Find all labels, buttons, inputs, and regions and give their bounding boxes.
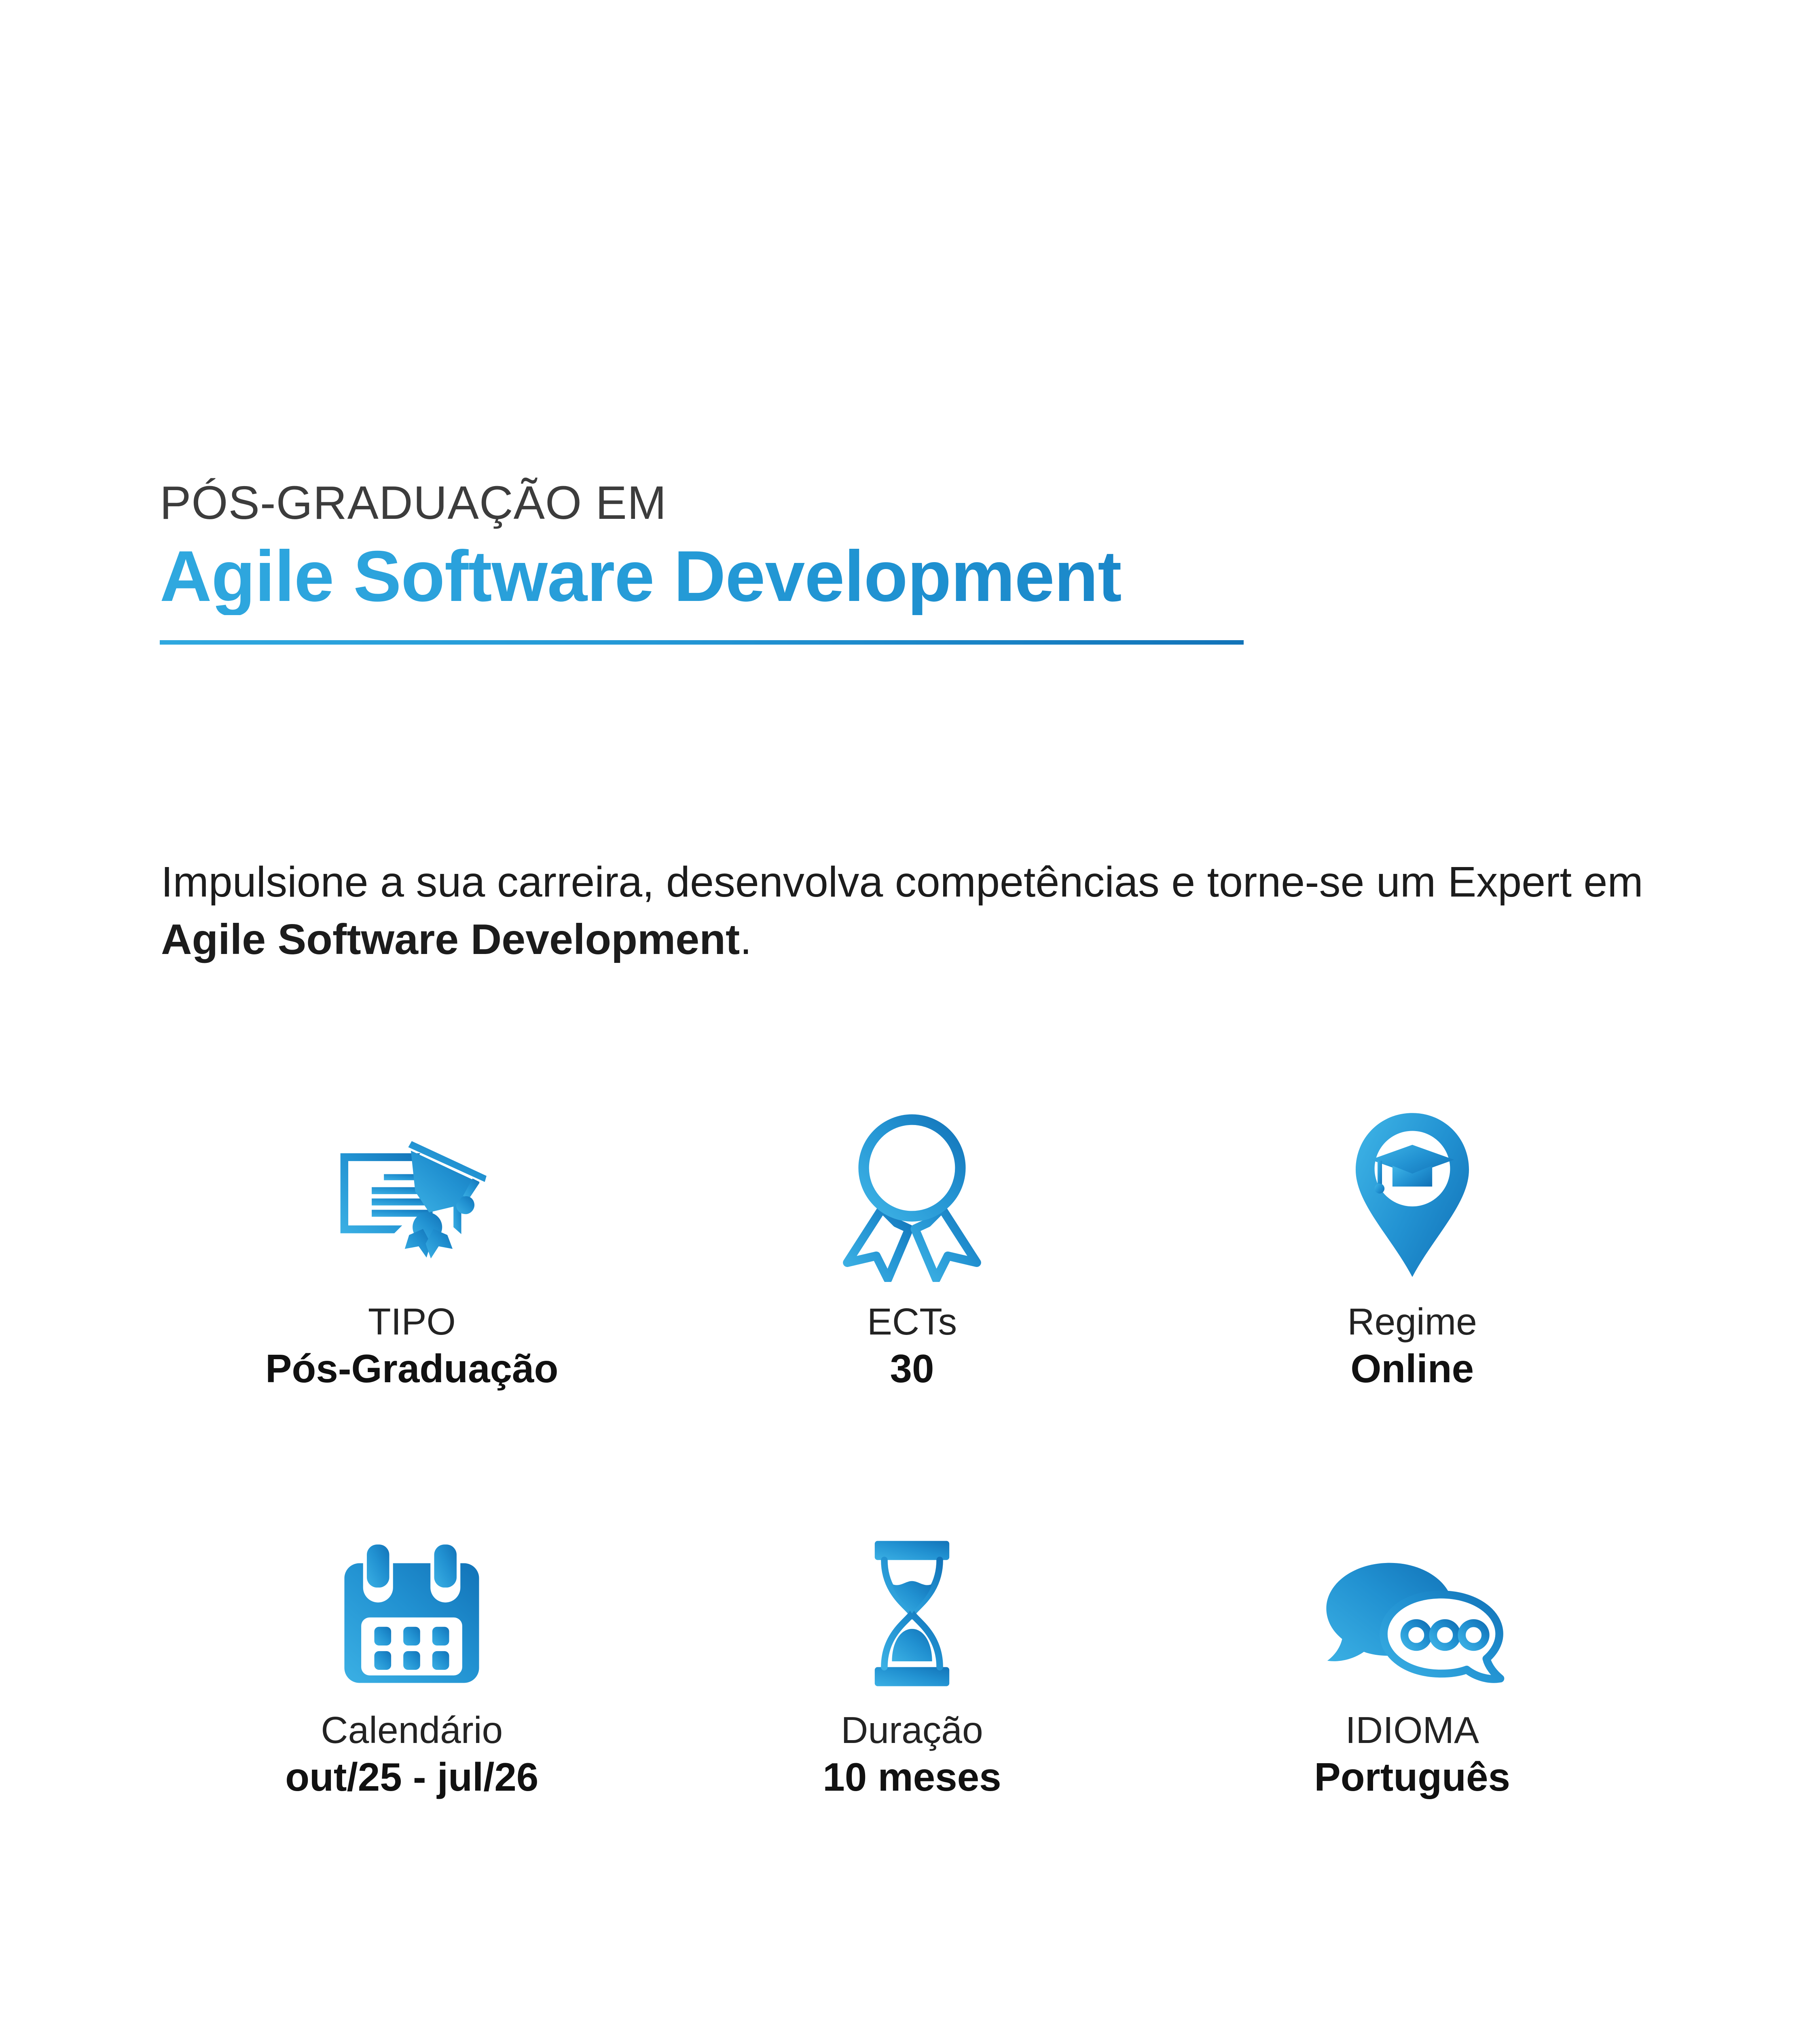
speech-bubbles-icon <box>1317 1500 1507 1690</box>
diploma-graduation-cap-icon <box>325 1092 499 1282</box>
fact-item-idioma: IDIOMA Português <box>1162 1500 1662 1800</box>
fact-label: ECTs <box>867 1301 957 1343</box>
lead-paragraph: Impulsione a sua carreira, desenvolva co… <box>161 853 1666 968</box>
fact-item-duracao: Duração 10 meses <box>662 1500 1162 1800</box>
fact-value: Pós-Graduação <box>265 1347 558 1391</box>
award-medal-ribbon-icon <box>839 1092 985 1282</box>
fact-label: IDIOMA <box>1345 1709 1479 1751</box>
page-title: Agile Software Development <box>160 537 1680 615</box>
calendar-icon <box>337 1500 487 1690</box>
hourglass-icon <box>859 1500 965 1690</box>
fact-item-ects: ECTs 30 <box>662 1092 1162 1391</box>
fact-value: Português <box>1314 1755 1510 1800</box>
fact-value: Online <box>1350 1347 1474 1391</box>
fact-label: Calendário <box>321 1709 503 1751</box>
fact-value: 10 meses <box>823 1755 1001 1800</box>
fact-item-regime: Regime Online <box>1162 1092 1662 1391</box>
page-header: PÓS-GRADUAÇÃO EM Agile Software Developm… <box>160 479 1680 645</box>
lead-highlight: Agile Software Development <box>161 916 740 963</box>
poster-page: PÓS-GRADUAÇÃO EM Agile Software Developm… <box>0 0 1820 2022</box>
lead-text-after: . <box>740 916 751 963</box>
fact-label: Duração <box>841 1709 983 1751</box>
fact-label: Regime <box>1347 1301 1477 1343</box>
fact-value: out/25 - jul/26 <box>285 1755 538 1800</box>
lead-text-before: Impulsione a sua carreira, desenvolva co… <box>161 858 1643 906</box>
program-type-eyebrow: PÓS-GRADUAÇÃO EM <box>160 479 1680 526</box>
fact-item-calendario: Calendário out/25 - jul/26 <box>162 1500 662 1800</box>
program-facts-grid: TIPO Pós-Graduação <box>162 1092 1662 1800</box>
fact-value: 30 <box>890 1347 934 1391</box>
fact-label: TIPO <box>368 1301 456 1343</box>
title-underline-rule <box>160 640 1244 645</box>
fact-item-tipo: TIPO Pós-Graduação <box>162 1092 662 1391</box>
location-pin-graduation-cap-icon <box>1348 1092 1477 1282</box>
